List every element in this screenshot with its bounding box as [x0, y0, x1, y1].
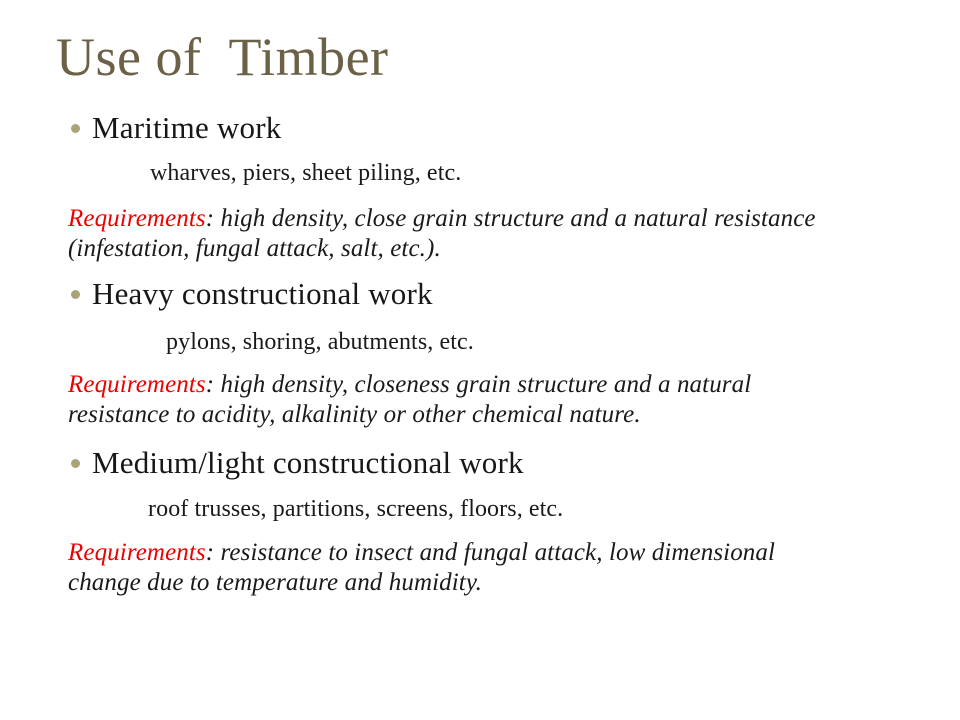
bullet-dot-icon	[71, 290, 80, 299]
bullet-label-medium-light: Medium/light constructional work	[92, 445, 524, 480]
requirements-paragraph-medium-light: Requirements: resistance to insect and f…	[0, 538, 960, 598]
page-title: Use of Timber	[56, 27, 389, 87]
bullet-item-heavy[interactable]: Heavy constructional work	[0, 274, 960, 314]
bullet-dot-icon	[71, 124, 80, 133]
requirements-paragraph-heavy: Requirements: high density, closeness gr…	[0, 370, 960, 430]
spacer	[0, 148, 960, 157]
slide-body: Maritime work wharves, piers, sheet pili…	[0, 108, 960, 598]
bullet-dot-icon	[71, 459, 80, 468]
bullet-item-maritime[interactable]: Maritime work	[0, 108, 960, 148]
bullet-label-heavy: Heavy constructional work	[92, 276, 433, 311]
requirements-label: Requirements	[68, 539, 206, 566]
content-section-medium-light: Medium/light constructional work roof tr…	[0, 443, 960, 598]
spacer	[0, 264, 960, 274]
content-section-maritime: Maritime work wharves, piers, sheet pili…	[0, 108, 960, 264]
presentation-slide: Use of Timber Maritime work wharves, pie…	[0, 0, 960, 720]
bullet-detail-maritime: wharves, piers, sheet piling, etc.	[0, 157, 960, 190]
bullet-label-maritime: Maritime work	[92, 110, 281, 145]
bullet-item-medium-light[interactable]: Medium/light constructional work	[0, 443, 960, 483]
spacer	[0, 314, 960, 326]
spacer	[0, 483, 960, 493]
spacer	[0, 430, 960, 443]
content-section-heavy: Heavy constructional work pylons, shorin…	[0, 274, 960, 430]
requirements-label: Requirements	[68, 205, 206, 232]
bullet-detail-medium-light: roof trusses, partitions, screens, floor…	[0, 493, 960, 526]
spacer	[0, 359, 960, 370]
spacer	[0, 526, 960, 538]
requirements-paragraph-maritime: Requirements: high density, close grain …	[0, 204, 960, 264]
spacer	[0, 190, 960, 204]
bullet-detail-heavy: pylons, shoring, abutments, etc.	[0, 326, 960, 359]
requirements-label: Requirements	[68, 371, 206, 398]
